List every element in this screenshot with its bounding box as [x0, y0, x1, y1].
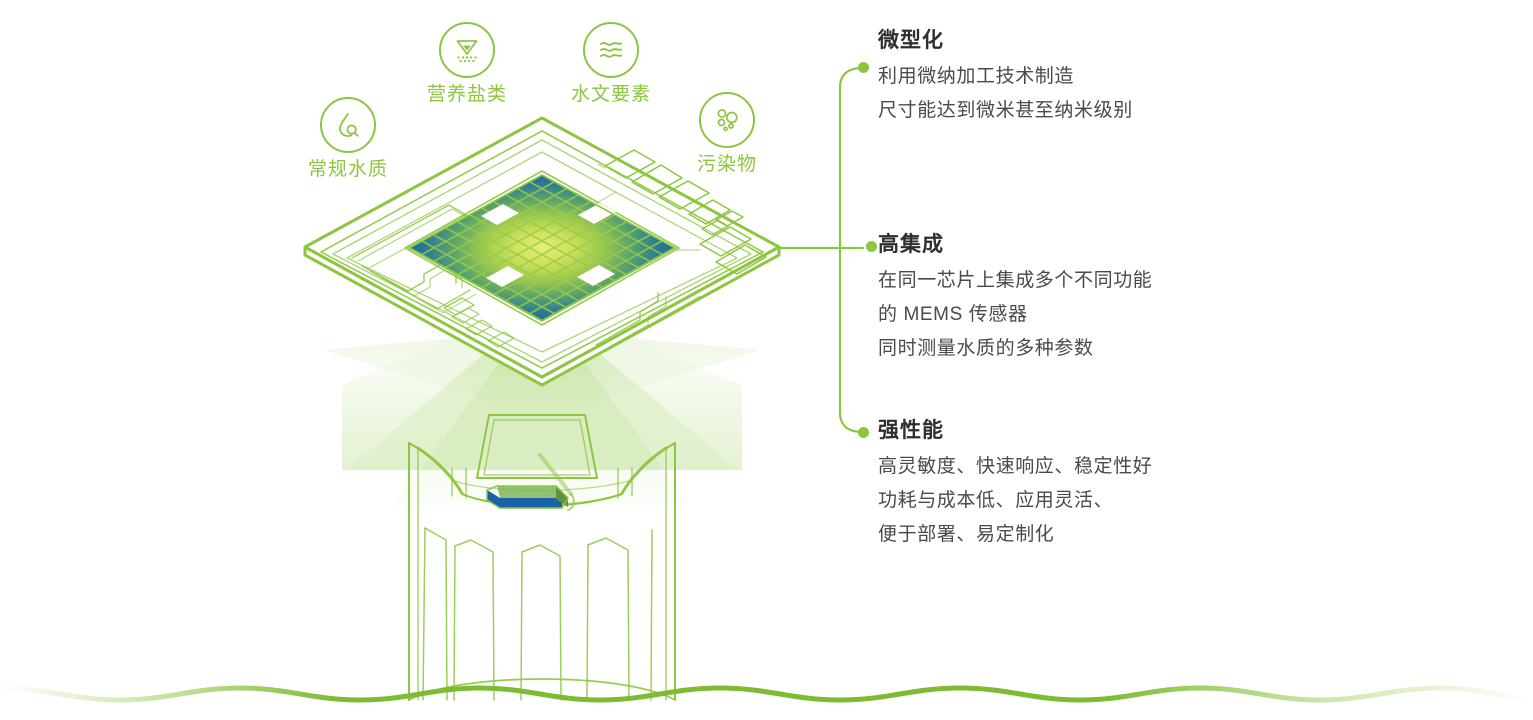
feature-title: 高集成	[878, 232, 1152, 258]
icon-circle	[583, 22, 639, 78]
icon-circle	[699, 92, 755, 148]
icon-circle	[439, 22, 495, 78]
feature-line: 同时测量水质的多种参数	[878, 332, 1152, 366]
callout-dot-strong-performance	[858, 427, 869, 438]
feature-line: 功耗与成本低、应用灵活、	[878, 484, 1152, 518]
water-drop-magnifier-icon	[331, 108, 365, 142]
isometric-mems-chip	[0, 0, 779, 385]
feature-line: 利用微纳加工技术制造	[878, 60, 1133, 94]
sensor-badge-label: 污染物	[697, 155, 757, 174]
feature-title: 强性能	[878, 418, 1152, 444]
feature-line: 便于部署、易定制化	[878, 518, 1152, 552]
feature-line: 在同一芯片上集成多个不同功能	[878, 264, 1152, 298]
feature-strong-performance: 强性能 高灵敏度、快速响应、稳定性好 功耗与成本低、应用灵活、 便于部署、易定制…	[878, 418, 1152, 552]
feature-title: 微型化	[878, 28, 1133, 54]
feature-line: 高灵敏度、快速响应、稳定性好	[878, 450, 1152, 484]
sensor-badge-label: 常规水质	[308, 160, 388, 179]
icon-circle	[320, 97, 376, 153]
funnel-particles-icon	[450, 33, 484, 67]
feature-line: 的 MEMS 传感器	[878, 298, 1152, 332]
feature-miniaturization: 微型化 利用微纳加工技术制造 尺寸能达到微米甚至纳米级别	[878, 28, 1133, 128]
water-waves-icon	[594, 33, 628, 67]
sensor-badge-pollutants[interactable]: 污染物	[697, 92, 757, 174]
sensor-badge-routine-water-quality[interactable]: 常规水质	[308, 97, 388, 179]
illustration-layer	[0, 0, 1533, 720]
feature-line: 尺寸能达到微米甚至纳米级别	[878, 94, 1133, 128]
sensor-badge-hydrological-elements[interactable]: 水文要素	[571, 22, 651, 104]
infographic-root: 常规水质 营养盐类 水文	[0, 0, 1533, 720]
feature-high-integration: 高集成 在同一芯片上集成多个不同功能 的 MEMS 传感器 同时测量水质的多种参…	[878, 232, 1152, 366]
callout-dot-high-integration	[866, 241, 877, 252]
callout-connectors	[779, 68, 863, 432]
bubbles-particles-icon	[710, 103, 744, 137]
sensor-badge-label: 营养盐类	[427, 85, 507, 104]
callout-dot-miniaturization	[858, 62, 869, 73]
sensor-badge-nutrient-salts[interactable]: 营养盐类	[427, 22, 507, 104]
sensor-badge-label: 水文要素	[571, 85, 651, 104]
